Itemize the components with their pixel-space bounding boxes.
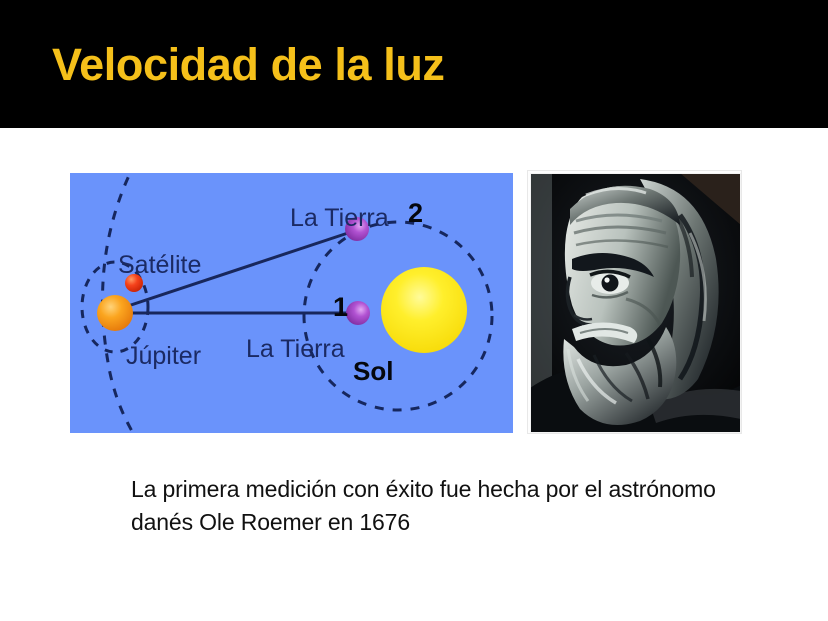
title-banner: Velocidad de la luz (0, 0, 828, 128)
diagram-label-earth-one: La Tierra (246, 337, 345, 362)
caption-text: La primera medición con éxito fue hecha … (131, 473, 731, 538)
diagram-label-satellite: Satélite (118, 253, 201, 278)
light-speed-diagram: Satélite Júpiter La Tierra 2 La Tierra 1… (70, 173, 513, 433)
diagram-label-sun: Sol (353, 358, 393, 384)
diagram-label-jupiter: Júpiter (126, 344, 201, 369)
jupiter-body (97, 295, 133, 331)
diagram-label-earth-two-number: 2 (408, 200, 423, 227)
diagram-label-earth-one-number: 1 (333, 294, 348, 321)
portrait-image-frame (527, 170, 742, 434)
earth-body-position-1 (346, 301, 370, 325)
slide-content: Satélite Júpiter La Tierra 2 La Tierra 1… (0, 128, 828, 621)
sun-body (381, 267, 467, 353)
page-title: Velocidad de la luz (52, 42, 445, 87)
diagram-label-earth-two: La Tierra (290, 206, 389, 231)
roemer-portrait-image (530, 173, 741, 433)
